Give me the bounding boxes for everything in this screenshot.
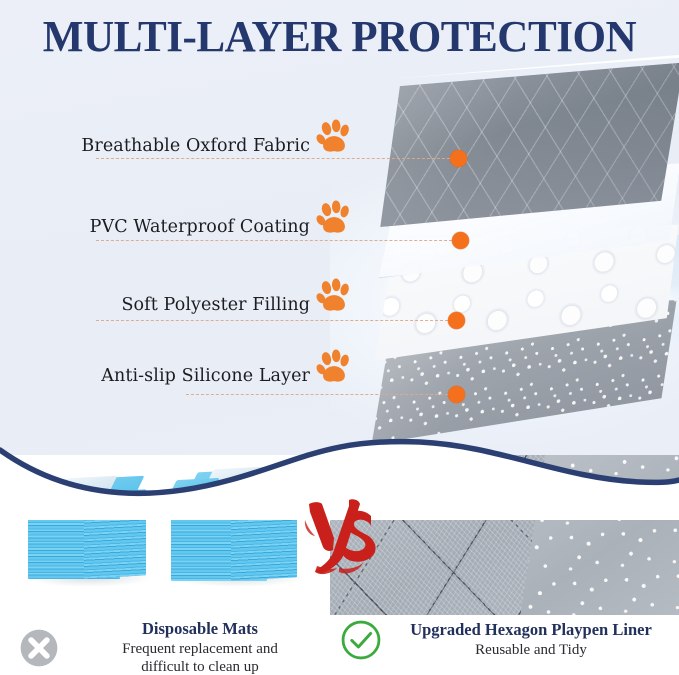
- feature-row-3: Soft Polyester Filling: [0, 292, 310, 318]
- feature-label-3: Soft Polyester Filling: [121, 295, 310, 315]
- feature-row-4: Anti-slip Silicone Layer: [0, 363, 310, 389]
- connector-line-2: [96, 240, 462, 241]
- product-infographic: MULTI-LAYER PROTECTION Breathable Oxford…: [0, 0, 679, 675]
- comparison-right-panel: [330, 455, 679, 615]
- feature-row-1: Breathable Oxford Fabric: [0, 133, 310, 159]
- caption-subtitle-line1: Frequent replacement and: [122, 641, 278, 657]
- page-title: MULTI-LAYER PROTECTION: [7, 12, 672, 63]
- paw-icon: [314, 199, 354, 239]
- caption-subtitle-line1: Reusable and Tidy: [475, 642, 587, 658]
- layered-mat-illustration: [352, 60, 679, 440]
- caption-disposable-mats: Disposable Mats Frequent replacement and…: [18, 619, 330, 675]
- caption-subtitle-line2: difficult to clean up: [70, 658, 330, 675]
- disposable-pad-stack-2: [167, 465, 307, 585]
- endpoint-dot-1: [450, 150, 467, 167]
- feature-label-4: Anti-slip Silicone Layer: [101, 366, 310, 386]
- caption-title: Upgraded Hexagon Playpen Liner: [392, 620, 670, 640]
- paw-icon: [314, 118, 354, 158]
- disposable-pad-stack-1: [24, 473, 154, 583]
- cross-circle-icon: [18, 627, 60, 669]
- feature-label-2: PVC Waterproof Coating: [90, 217, 310, 237]
- endpoint-dot-2: [452, 232, 469, 249]
- caption-subtitle: Frequent replacement and difficult to cl…: [70, 640, 330, 675]
- caption-subtitle: Reusable and Tidy: [392, 641, 670, 659]
- feature-label-1: Breathable Oxford Fabric: [81, 136, 310, 156]
- caption-hexagon-liner: Upgraded Hexagon Playpen Liner Reusable …: [340, 619, 670, 661]
- mat-layer-oxford-fabric: [374, 62, 679, 227]
- check-circle-icon: [340, 619, 382, 661]
- connector-line-4: [186, 394, 458, 395]
- multi-layer-section: MULTI-LAYER PROTECTION Breathable Oxford…: [0, 0, 679, 486]
- caption-title: Disposable Mats: [70, 619, 330, 639]
- paw-icon: [314, 348, 354, 388]
- endpoint-dot-4: [448, 386, 465, 403]
- connector-line-3: [96, 320, 458, 321]
- paw-icon: [314, 277, 354, 317]
- endpoint-dot-3: [448, 312, 465, 329]
- versus-badge: [303, 492, 379, 578]
- feature-row-2: PVC Waterproof Coating: [0, 214, 310, 240]
